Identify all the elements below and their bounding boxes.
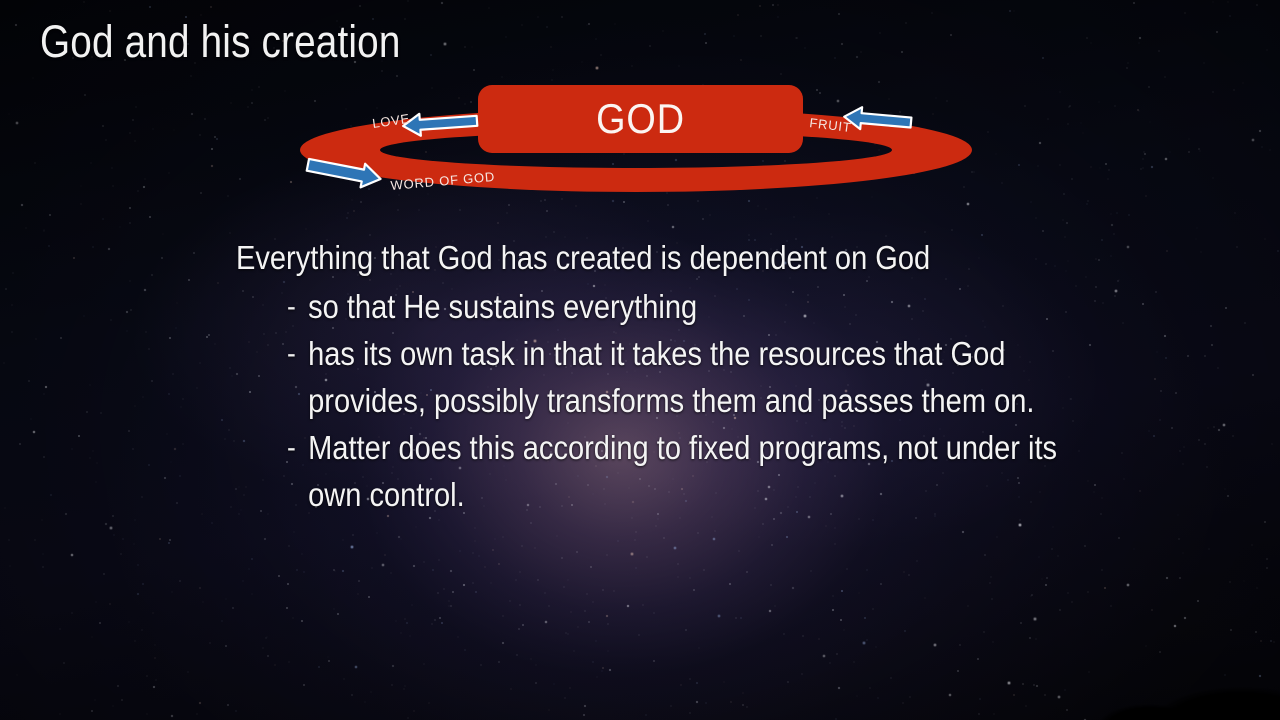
bullet-dash: -: [287, 283, 296, 330]
bullet-dash: -: [287, 330, 296, 377]
bullet-dash: -: [287, 424, 296, 471]
list-item: - so that He sustains everything: [287, 283, 1083, 330]
list-item-text: has its own task in that it takes the re…: [308, 335, 1034, 419]
god-box-label: GOD: [494, 85, 787, 153]
list-item-text: so that He sustains everything: [308, 288, 697, 325]
list-item: - has its own task in that it takes the …: [287, 330, 1083, 424]
presentation-slide: God and his creation: [0, 0, 1280, 720]
list-item-text: Matter does this according to fixed prog…: [308, 429, 1057, 513]
bullet-list: - so that He sustains everything - has i…: [236, 283, 1066, 518]
slide-body: Everything that God has created is depen…: [236, 234, 1066, 518]
horizon-silhouette: [1090, 654, 1280, 720]
body-lead-line: Everything that God has created is depen…: [236, 234, 966, 281]
god-cycle-diagram: LOVE FRUIT WORD OF GOD GOD: [295, 78, 995, 203]
list-item: - Matter does this according to fixed pr…: [287, 424, 1083, 518]
